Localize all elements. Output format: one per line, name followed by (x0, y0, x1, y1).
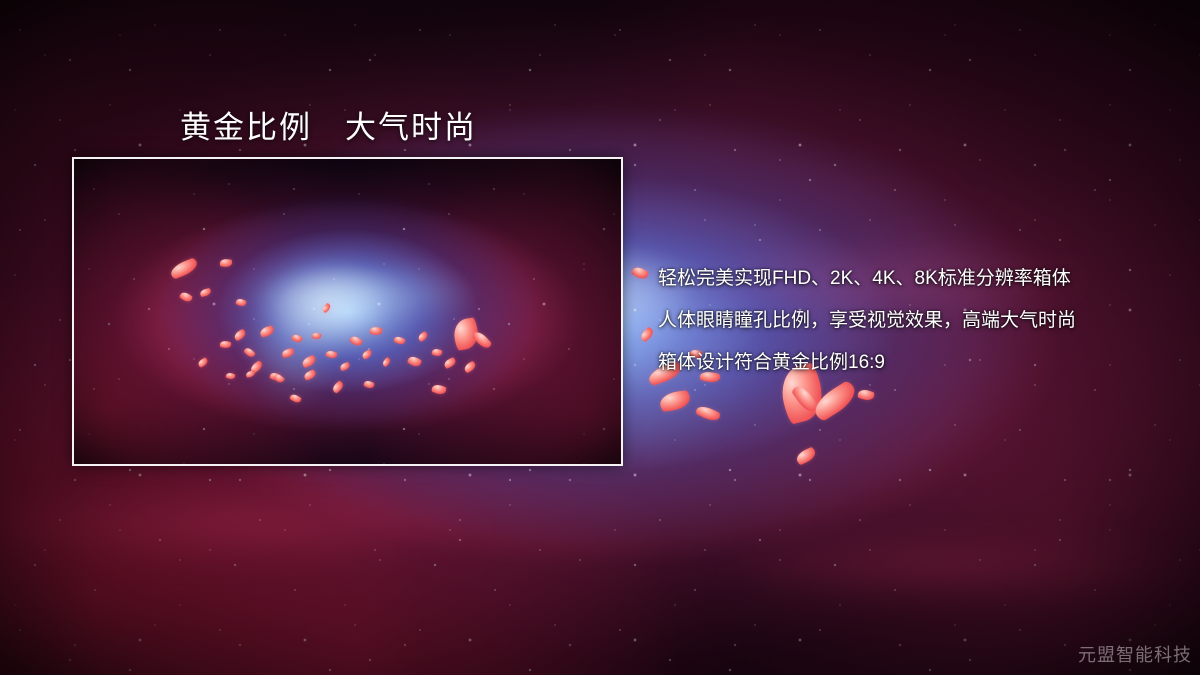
frame-vignette (74, 159, 621, 464)
body-text-block: 轻松完美实现FHD、2K、4K、8K标准分辨率箱体 人体眼睛瞳孔比例，享受视觉效… (658, 258, 1076, 384)
watermark: 元盟智能科技 (1078, 641, 1192, 667)
body-line: 人体眼睛瞳孔比例，享受视觉效果，高端大气时尚 (658, 300, 1076, 342)
presentation-slide: 黄金比例 大气时尚 轻松完美实现FHD、2K、4K、8K标准分辨率箱体 人体眼睛… (0, 0, 1200, 675)
body-line: 轻松完美实现FHD、2K、4K、8K标准分辨率箱体 (658, 258, 1076, 300)
framed-product-image[interactable] (72, 157, 623, 466)
page-title: 黄金比例 大气时尚 (180, 102, 477, 147)
frame-image-content (74, 159, 621, 464)
body-line: 箱体设计符合黄金比例16:9 (658, 342, 1076, 384)
